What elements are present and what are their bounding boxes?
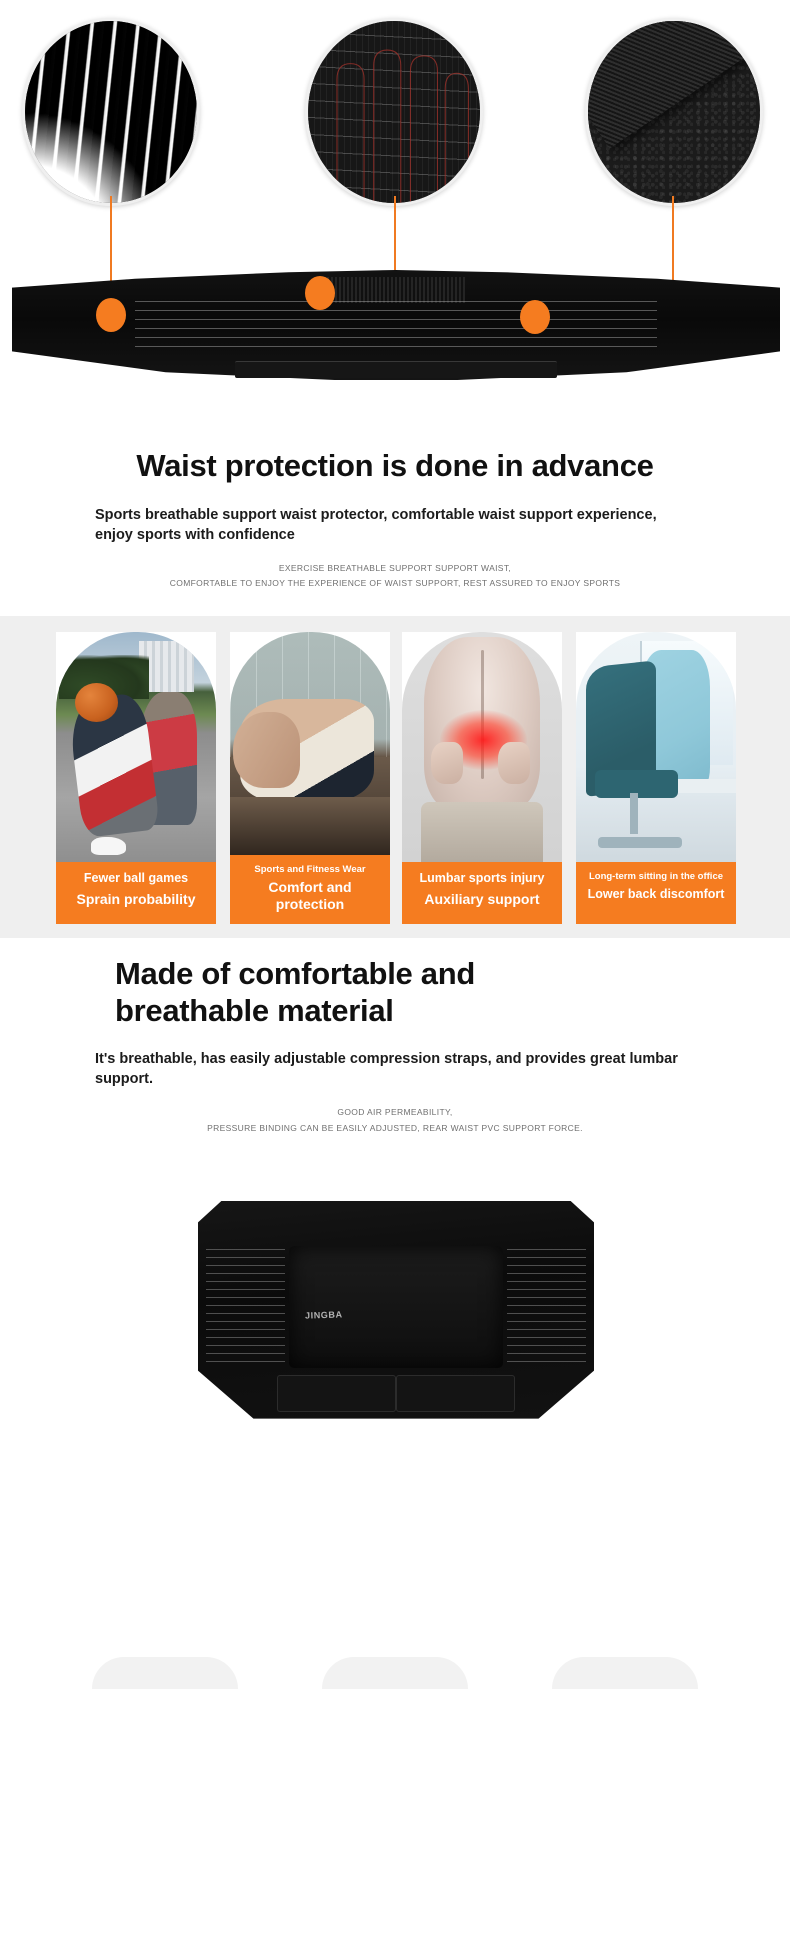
section-one-text-block: Waist protection is done in advance Spor… — [0, 440, 790, 592]
panel-caption-top: Sports and Fitness Wear — [234, 864, 386, 876]
hero-detail-section — [0, 0, 790, 440]
lifestyle-panel[interactable]: Long-term sitting in the office Lower ba… — [576, 632, 736, 924]
panel-caption-top: Long-term sitting in the office — [580, 871, 732, 883]
situp-scene — [230, 632, 390, 855]
panel-photo-situps — [230, 632, 390, 855]
panel-caption-bottom: Auxiliary support — [406, 891, 558, 908]
panel-caption-bar: Lumbar sports injury Auxiliary support — [402, 862, 562, 924]
right-hand — [498, 742, 530, 783]
product-belt-image-top — [12, 270, 780, 380]
belt-left-strap — [277, 1375, 396, 1412]
red-stitch-lines-icon — [308, 21, 480, 203]
section-two-text-block: Made of comfortable and breathable mater… — [0, 938, 790, 1137]
knit-stitch-texture — [308, 21, 480, 203]
belt-center-tab — [327, 277, 465, 303]
section-two-caption-line-2: PRESSURE BINDING CAN BE EASILY ADJUSTED,… — [55, 1121, 735, 1137]
basketball-icon — [75, 683, 118, 722]
section-two-caption: GOOD AIR PERMEABILITY, PRESSURE BINDING … — [55, 1105, 735, 1136]
section-two-title-line-1: Made of comfortable and — [115, 956, 675, 993]
section-one-caption-line-2: COMFORTABLE TO ENJOY THE EXPERIENCE OF W… — [55, 576, 735, 592]
detail-callout-group — [0, 10, 790, 205]
panel-caption-top: Lumbar sports injury — [406, 871, 558, 887]
elastic-ribbed-band-detail-image — [22, 18, 200, 206]
section-two-subtitle: It's breathable, has easily adjustable c… — [95, 1049, 695, 1089]
panel-caption-top: Fewer ball games — [60, 871, 212, 887]
basketball-scene — [56, 632, 216, 862]
panel-caption-bar: Fewer ball games Sprain probability — [56, 862, 216, 924]
panel-caption-bottom: Comfort and protection — [234, 879, 386, 913]
section-one-caption: EXERCISE BREATHABLE SUPPORT SUPPORT WAIS… — [55, 561, 735, 592]
red-stitch-knit-detail-image — [305, 18, 483, 206]
preview-circle-1 — [92, 1657, 238, 1689]
section-two-title-line-2: breathable material — [115, 993, 675, 1030]
velcro-nap-texture — [588, 21, 760, 203]
next-section-preview — [0, 1599, 790, 1689]
left-hand — [431, 742, 463, 783]
lifestyle-panel[interactable]: Fewer ball games Sprain probability — [56, 632, 216, 924]
section-one-title: Waist protection is done in advance — [0, 448, 790, 485]
panel-photo-back-pain — [402, 632, 562, 862]
panel-photo-office — [576, 632, 736, 862]
panel-photo-basketball — [56, 632, 216, 862]
section-two-title: Made of comfortable and breathable mater… — [115, 956, 675, 1029]
brand-logo: JINGBA — [305, 1309, 343, 1320]
preview-circle-2 — [322, 1657, 468, 1689]
office-desk-scene — [576, 632, 736, 862]
belt-right-strap — [396, 1375, 515, 1412]
product-belt-image-bottom: JINGBA — [0, 1179, 790, 1599]
callout-hotspot-dot-1[interactable] — [96, 298, 126, 332]
section-two-caption-line-1: GOOD AIR PERMEABILITY, — [55, 1105, 735, 1121]
belt-rib-lines — [135, 301, 657, 354]
floor-surface — [230, 797, 390, 855]
panel-caption-bottom: Lower back discomfort — [580, 887, 732, 902]
belt-front-view: JINGBA — [198, 1201, 594, 1419]
sneaker — [91, 837, 126, 855]
back-pain-scene — [402, 632, 562, 862]
panel-caption-bar: Long-term sitting in the office Lower ba… — [576, 862, 736, 924]
belt-bottom-strap — [235, 361, 558, 378]
callout-hotspot-dot-2[interactable] — [305, 276, 335, 310]
panel-caption-bar: Sports and Fitness Wear Comfort and prot… — [230, 855, 390, 924]
ribbed-band-texture — [22, 18, 200, 206]
belt-right-rib-panel — [507, 1249, 586, 1367]
velcro-flap — [585, 18, 746, 149]
velcro-loop-fabric-detail-image — [585, 18, 763, 206]
lifestyle-panel-strip: Fewer ball games Sprain probability Spor… — [0, 616, 790, 938]
chair-base — [598, 837, 681, 849]
lifestyle-panel[interactable]: Sports and Fitness Wear Comfort and prot… — [230, 632, 390, 924]
panel-caption-bottom: Sprain probability — [60, 891, 212, 908]
section-one-caption-line-1: EXERCISE BREATHABLE SUPPORT SUPPORT WAIS… — [55, 561, 735, 577]
belt-left-rib-panel — [206, 1249, 285, 1367]
preview-circle-3 — [552, 1657, 698, 1689]
callout-hotspot-dot-3[interactable] — [520, 300, 550, 334]
bent-leg — [233, 712, 300, 788]
belt-center-panel — [289, 1246, 503, 1368]
lifestyle-panel[interactable]: Lumbar sports injury Auxiliary support — [402, 632, 562, 924]
chair-post — [630, 793, 638, 834]
section-one-subtitle: Sports breathable support waist protecto… — [95, 505, 695, 545]
trousers — [421, 802, 543, 862]
